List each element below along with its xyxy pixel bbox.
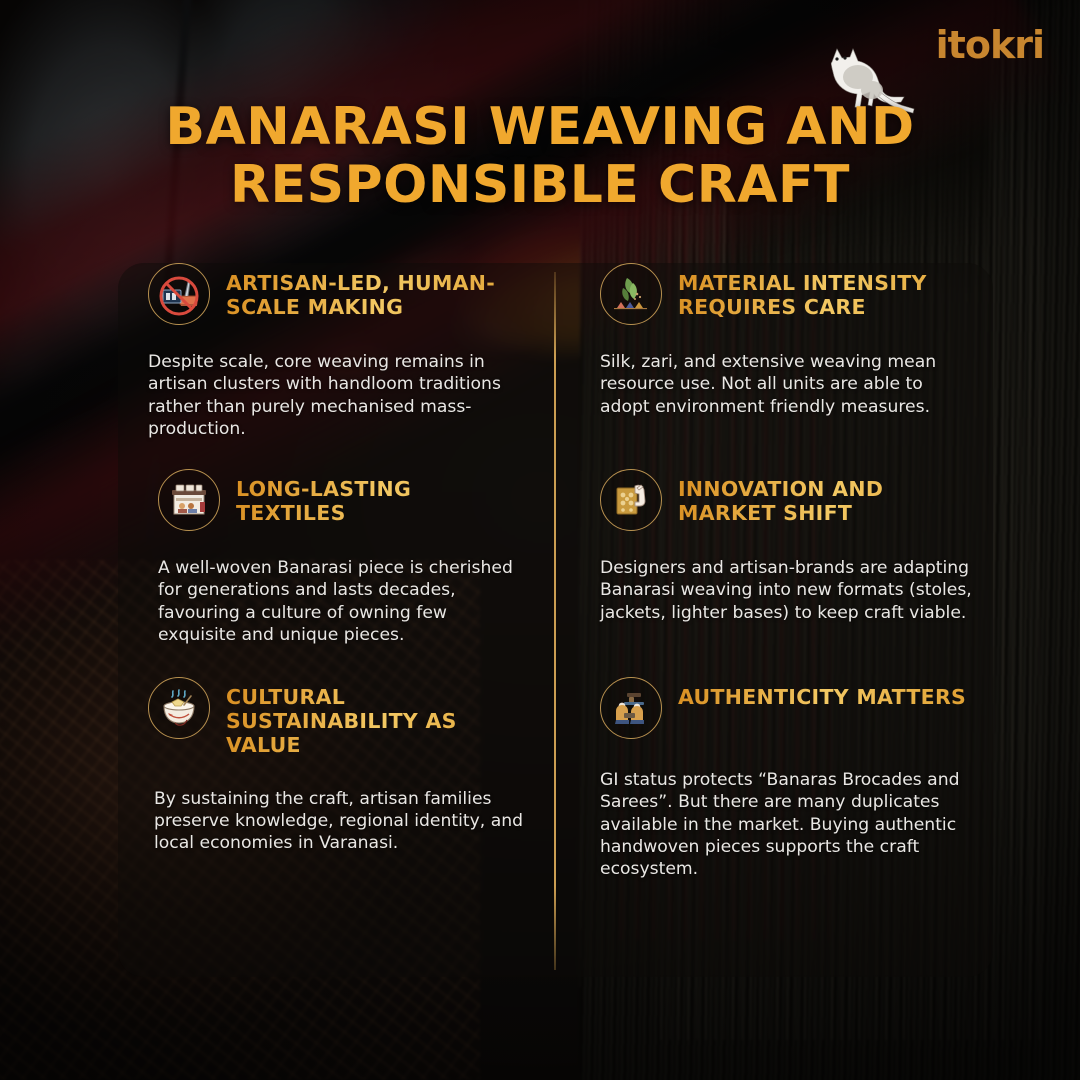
brand-logo[interactable]: itokri bbox=[936, 26, 1044, 64]
brand-logo-text: itokri bbox=[936, 26, 1044, 64]
card-body: By sustaining the craft, artisan familie… bbox=[148, 788, 526, 855]
card-header: CULTURAL SUSTAINABILITY AS VALUE bbox=[148, 677, 526, 758]
card-innovation-market-shift: INNOVATION AND MARKET SHIFT Designers an… bbox=[554, 469, 993, 677]
artisan-workshop-icon bbox=[158, 469, 220, 531]
card-artisan-led: ARTISAN-LED, HUMAN-SCALE MAKING Despite … bbox=[118, 263, 554, 469]
card-body: GI status protects “Banaras Brocades and… bbox=[600, 769, 975, 881]
card-body: Silk, zari, and extensive weaving mean r… bbox=[600, 351, 975, 418]
card-title: ARTISAN-LED, HUMAN-SCALE MAKING bbox=[226, 263, 526, 319]
card-header: AUTHENTICITY MATTERS bbox=[600, 677, 975, 739]
two-weavers-at-loom-icon bbox=[600, 677, 662, 739]
card-body: A well-woven Banarasi piece is cherished… bbox=[158, 557, 526, 646]
natural-dye-leaves-icon bbox=[600, 263, 662, 325]
card-title: CULTURAL SUSTAINABILITY AS VALUE bbox=[226, 677, 526, 758]
card-header: ARTISAN-LED, HUMAN-SCALE MAKING bbox=[148, 263, 526, 325]
card-title: INNOVATION AND MARKET SHIFT bbox=[678, 469, 975, 525]
card-long-lasting-textiles: LONG-LASTING TEXTILES A well-woven Banar… bbox=[118, 469, 554, 677]
card-cultural-sustainability: CULTURAL SUSTAINABILITY AS VALUE By sust… bbox=[118, 677, 554, 977]
infographic-canvas: itokri BANARASI WEAVING AND RESPONSIBLE … bbox=[0, 0, 1080, 1080]
card-title: MATERIAL INTENSITY REQUIRES CARE bbox=[678, 263, 975, 319]
card-title: AUTHENTICITY MATTERS bbox=[678, 677, 966, 709]
card-header: LONG-LASTING TEXTILES bbox=[158, 469, 526, 531]
hand-holding-brocade-icon bbox=[600, 469, 662, 531]
card-material-intensity: MATERIAL INTENSITY REQUIRES CARE Silk, z… bbox=[554, 263, 993, 469]
card-authenticity-matters: AUTHENTICITY MATTERS GI status protects … bbox=[554, 677, 993, 977]
dye-pot-icon bbox=[148, 677, 210, 739]
card-body: Designers and artisan-brands are adaptin… bbox=[600, 557, 975, 624]
card-header: INNOVATION AND MARKET SHIFT bbox=[600, 469, 975, 531]
card-title: LONG-LASTING TEXTILES bbox=[236, 469, 526, 525]
points-grid: ARTISAN-LED, HUMAN-SCALE MAKING Despite … bbox=[118, 263, 993, 977]
card-header: MATERIAL INTENSITY REQUIRES CARE bbox=[600, 263, 975, 325]
no-mass-production-icon bbox=[148, 263, 210, 325]
card-body: Despite scale, core weaving remains in a… bbox=[148, 351, 526, 440]
page-title: BANARASI WEAVING AND RESPONSIBLE CRAFT bbox=[0, 98, 1080, 214]
